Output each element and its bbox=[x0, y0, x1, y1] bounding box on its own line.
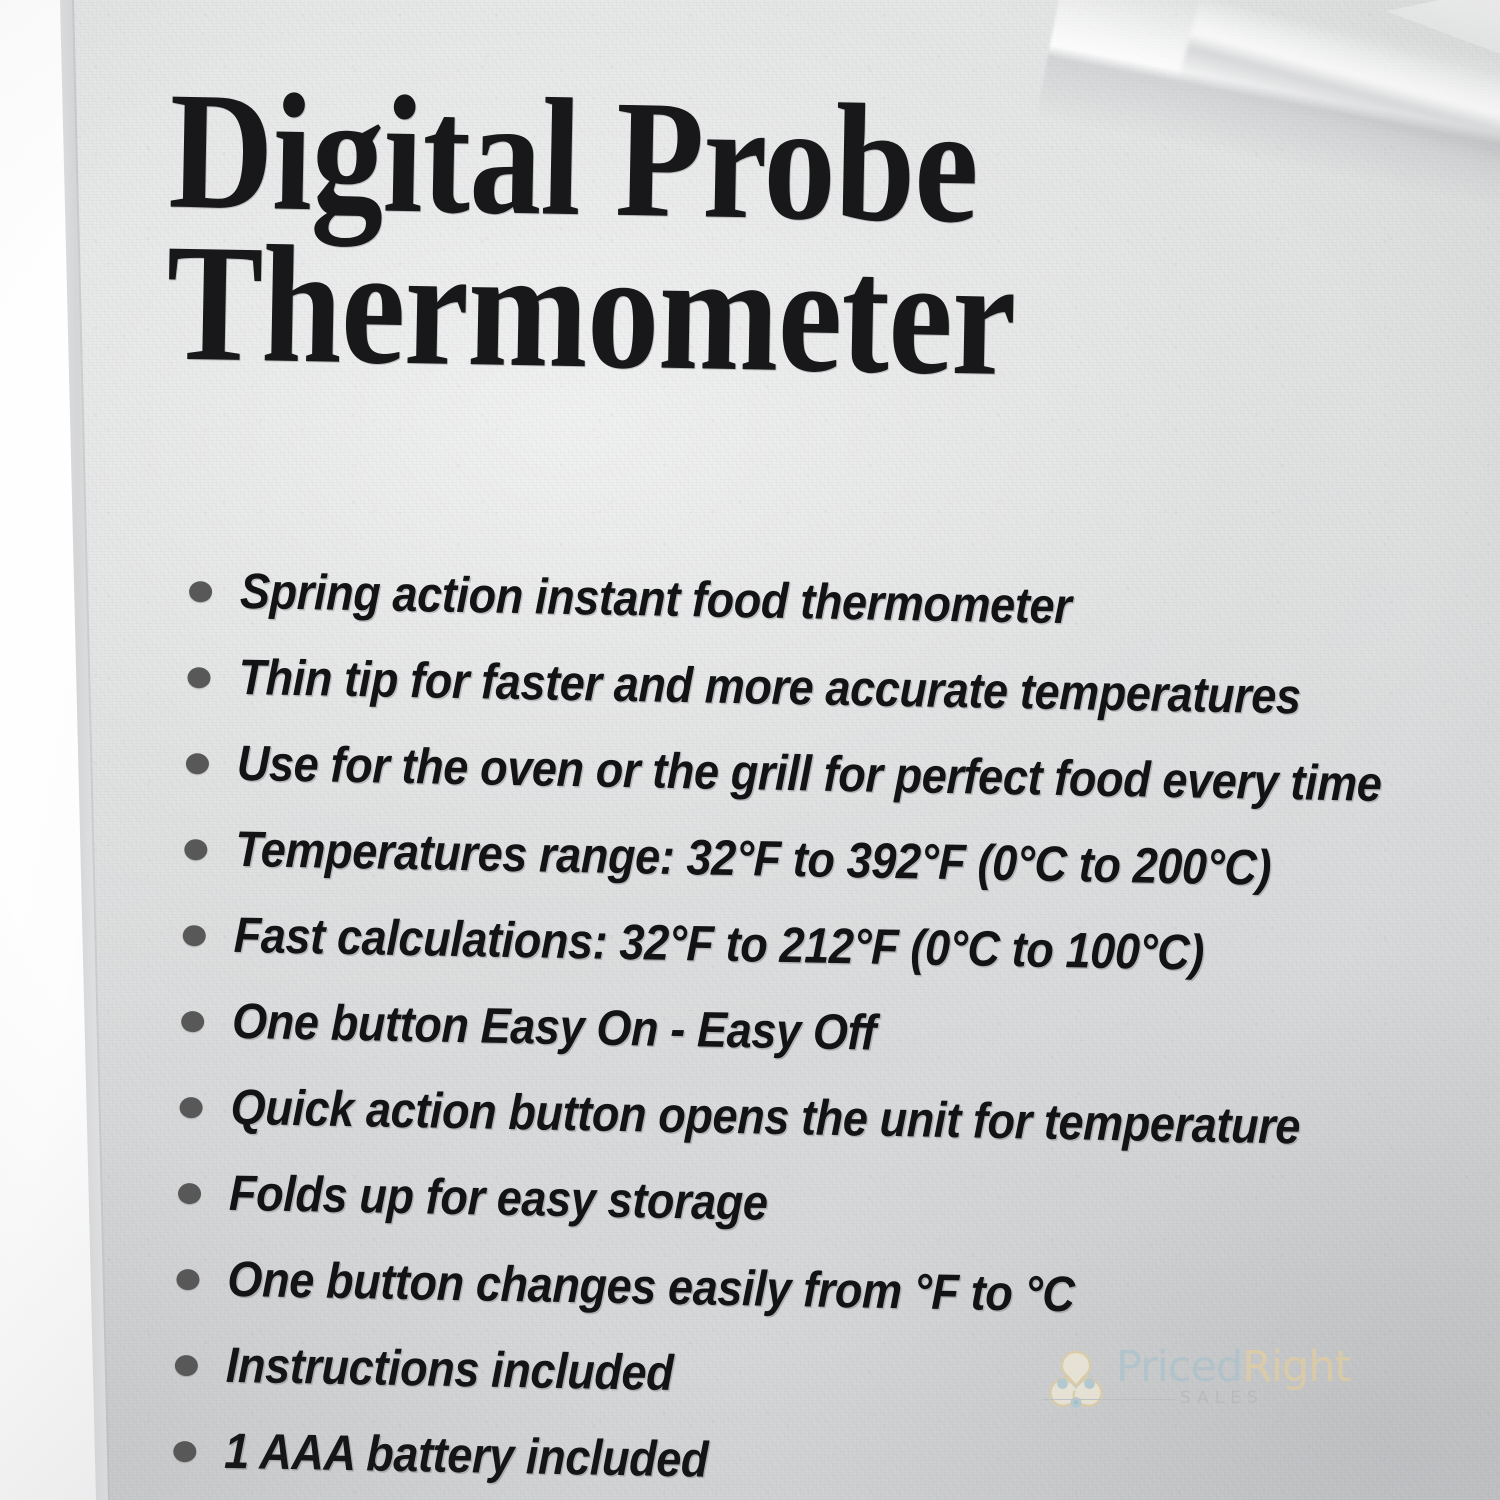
bullet-dot-icon bbox=[181, 1010, 204, 1031]
bullet-dot-icon bbox=[178, 1182, 201, 1203]
feature-text: Instructions included bbox=[225, 1338, 673, 1400]
feature-text: Use for the oven or the grill for perfec… bbox=[236, 736, 1382, 811]
package-photo: Digital Probe Thermometer Spring action … bbox=[0, 0, 1500, 1500]
bullet-dot-icon bbox=[175, 1354, 198, 1375]
watermark-subline: SALES bbox=[1116, 1388, 1342, 1410]
feature-text: 1 AAA battery included bbox=[224, 1424, 709, 1487]
product-title-line-2: Thermometer bbox=[165, 227, 1303, 400]
pricedright-trefoil-logo-icon bbox=[1040, 1346, 1112, 1418]
bullet-dot-icon bbox=[184, 838, 207, 859]
feature-text: Folds up for easy storage bbox=[229, 1166, 769, 1230]
feature-text: Spring action instant food thermometer bbox=[240, 564, 1072, 633]
product-title: Digital Probe Thermometer bbox=[165, 75, 1306, 400]
watermark-brand-priced: Priced bbox=[1116, 1342, 1242, 1392]
bullet-dot-icon bbox=[179, 1096, 202, 1117]
feature-text: One button changes easily from °F to °C bbox=[227, 1252, 1075, 1322]
bullet-dot-icon bbox=[189, 581, 212, 602]
bullet-dot-icon bbox=[173, 1440, 196, 1461]
seller-watermark: PricedRight SALES bbox=[1040, 1338, 1340, 1442]
bullet-dot-icon bbox=[183, 924, 206, 945]
feature-text: Quick action button opens the unit for t… bbox=[230, 1080, 1300, 1154]
watermark-brand-right: Right bbox=[1242, 1342, 1350, 1392]
watermark-wordmark: PricedRight SALES bbox=[1116, 1344, 1342, 1410]
bullet-dot-icon bbox=[176, 1268, 199, 1289]
watermark-brand: PricedRight bbox=[1116, 1344, 1342, 1390]
feature-text: Fast calculations: 32°F to 212°F (0°C to… bbox=[233, 908, 1204, 980]
feature-text: Temperatures range: 32°F to 392°F (0°C t… bbox=[235, 822, 1272, 895]
watermark-tagline: SALES bbox=[1180, 1388, 1264, 1408]
feature-text: Thin tip for faster and more accurate te… bbox=[238, 650, 1301, 723]
bullet-dot-icon bbox=[186, 753, 209, 774]
bullet-dot-icon bbox=[187, 667, 210, 688]
feature-text: One button Easy On - Easy Off bbox=[232, 994, 877, 1060]
watermark-divider-rule bbox=[1042, 1399, 1176, 1400]
printed-content: Digital Probe Thermometer Spring action … bbox=[0, 0, 1500, 1500]
